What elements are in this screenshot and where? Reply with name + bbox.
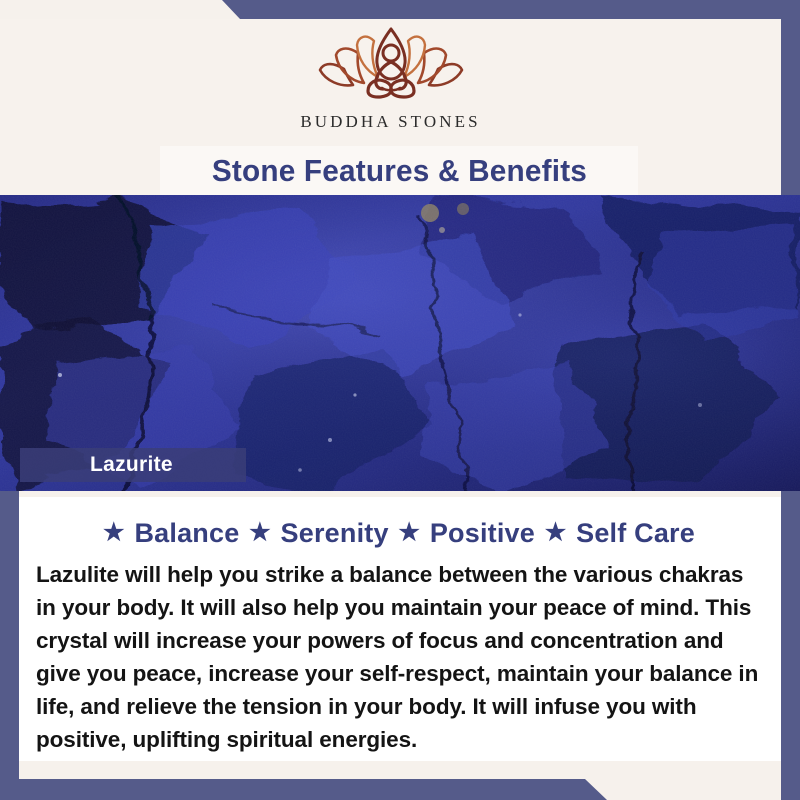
panel-footer-spacer: [19, 761, 781, 779]
page-title: Stone Features & Benefits: [211, 153, 586, 189]
frame-bottom-accent: [0, 779, 800, 800]
stone-features-infographic: BUDDHA STONES Stone Features & Benefits: [0, 0, 800, 800]
stone-photo: [0, 195, 800, 491]
title-plate: Stone Features & Benefits: [160, 146, 638, 196]
stone-description: Lazulite will help you strike a balance …: [36, 558, 765, 756]
content-panel: ★ Balance ★ Serenity ★ Positive ★ Self C…: [19, 497, 781, 761]
keyword-serenity: Serenity: [281, 518, 389, 548]
star-icon: ★: [249, 519, 271, 546]
keyword-list: ★ Balance ★ Serenity ★ Positive ★ Self C…: [19, 518, 781, 549]
brand-logo: BUDDHA STONES: [0, 25, 781, 132]
brand-name: BUDDHA STONES: [300, 112, 480, 132]
star-icon: ★: [103, 519, 125, 546]
stone-name-label: Lazurite: [90, 453, 173, 477]
keyword-positive: Positive: [430, 518, 535, 548]
lazurite-stone-image: [0, 195, 800, 491]
star-icon: ★: [398, 519, 420, 546]
frame-top-accent: [0, 0, 800, 19]
star-icon: ★: [545, 519, 567, 546]
stone-name-tag: Lazurite: [20, 448, 246, 482]
keyword-balance: Balance: [134, 518, 239, 548]
lotus-meditation-figure-icon: [306, 25, 476, 109]
keyword-self-care: Self Care: [576, 518, 695, 548]
